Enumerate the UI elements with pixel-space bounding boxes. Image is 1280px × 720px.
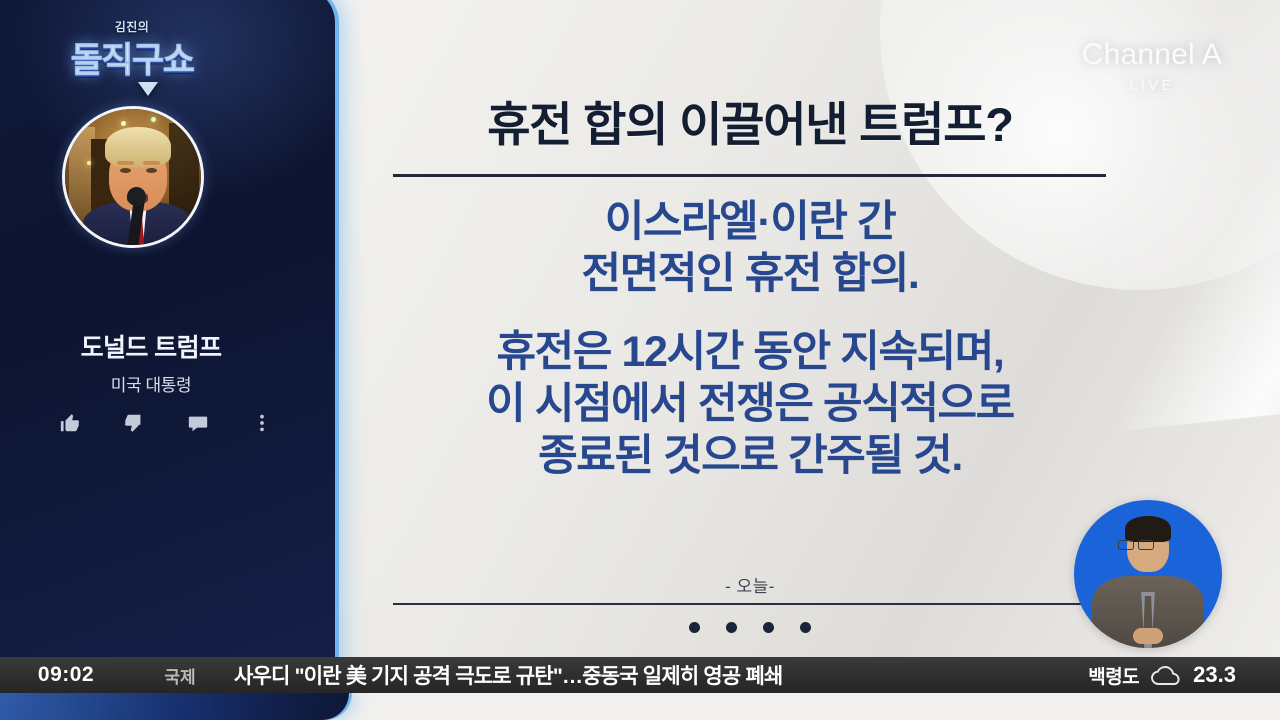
quote-block: 이스라엘·이란 간 전면적인 휴전 합의. 휴전은 12시간 동안 지속되며, … (355, 196, 1145, 482)
portrait-hair (105, 127, 171, 167)
comment-icon[interactable] (166, 412, 230, 434)
weather-temperature: 23.3 (1193, 662, 1236, 688)
quote-line: 휴전은 12시간 동안 지속되며, (355, 326, 1145, 378)
show-title: 돌직구쇼 (71, 32, 194, 83)
thumbs-up-icon[interactable] (38, 412, 102, 434)
page-title: 휴전 합의 이끌어낸 트럼프? (355, 86, 1145, 155)
quote-line: 이 시점에서 전쟁은 공식적으로 (355, 378, 1145, 430)
ticker-headline: 사우디 "이란 美 기지 공격 극도로 규탄"…중동국 일제히 영공 폐쇄 (228, 660, 1088, 690)
live-badge: LIVE (1082, 77, 1222, 94)
broadcast-screen: Channel A LIVE 휴전 합의 이끌어낸 트럼프? 이스라엘·이란 간… (0, 0, 1280, 720)
anchor-glasses-right (1138, 540, 1154, 550)
more-vertical-icon[interactable] (230, 412, 294, 434)
speaker-panel: 김진의 돌직구쇼 도널드 트럼프 미국 대통 (0, 0, 335, 698)
quote-line: 전면적인 휴전 합의. (355, 248, 1145, 300)
portrait-eye-left (120, 168, 131, 173)
channel-brand: Channel A LIVE (1082, 40, 1222, 94)
microphone-head-icon (127, 187, 146, 206)
quote-divider (393, 603, 1106, 605)
weather-widget: 백령도 23.3 (1088, 662, 1280, 689)
pagination-dot (726, 622, 737, 633)
speaker-actions (38, 406, 294, 440)
quote-line: 종료된 것으로 간주될 것. (355, 430, 1145, 482)
portrait-brow-right (143, 161, 160, 165)
thumbs-down-icon[interactable] (102, 412, 166, 434)
anchor-glasses-left (1118, 540, 1134, 550)
portrait-light (151, 117, 156, 122)
pagination-dot (800, 622, 811, 633)
portrait-brow-left (117, 161, 134, 165)
show-logo: 김진의 돌직구쇼 (42, 16, 222, 94)
weather-region: 백령도 (1088, 662, 1139, 689)
ticker-time: 09:02 (0, 663, 132, 687)
pagination-dots (355, 622, 1145, 633)
quote-attribution: - 오늘- (355, 572, 1145, 597)
portrait-light (121, 121, 126, 126)
anchor-hands (1133, 628, 1163, 644)
quote-paragraph-1: 이스라엘·이란 간 전면적인 휴전 합의. (355, 196, 1145, 300)
portrait-light (87, 161, 91, 165)
pagination-dot (689, 622, 700, 633)
speaker-portrait (62, 106, 204, 248)
speech-bubble-tail-icon (138, 82, 158, 96)
speaker-role: 미국 대통령 (0, 371, 316, 396)
channel-name: Channel A (1082, 40, 1222, 70)
cloud-icon (1151, 666, 1181, 685)
news-ticker: 09:02 국제 사우디 "이란 美 기지 공격 극도로 규탄"…중동국 일제히… (0, 657, 1280, 693)
anchor-hair (1125, 516, 1171, 542)
quote-line: 이스라엘·이란 간 (355, 196, 1145, 248)
bottom-accent-bar (0, 693, 349, 720)
speaker-name: 도널드 트럼프 (0, 328, 316, 364)
ticker-category: 국제 (132, 663, 228, 688)
portrait-eye-right (146, 168, 157, 173)
title-divider (393, 174, 1106, 177)
pagination-dot (763, 622, 774, 633)
quote-paragraph-2: 휴전은 12시간 동안 지속되며, 이 시점에서 전쟁은 공식적으로 종료된 것… (355, 326, 1145, 482)
anchor-thumbnail (1074, 500, 1222, 648)
